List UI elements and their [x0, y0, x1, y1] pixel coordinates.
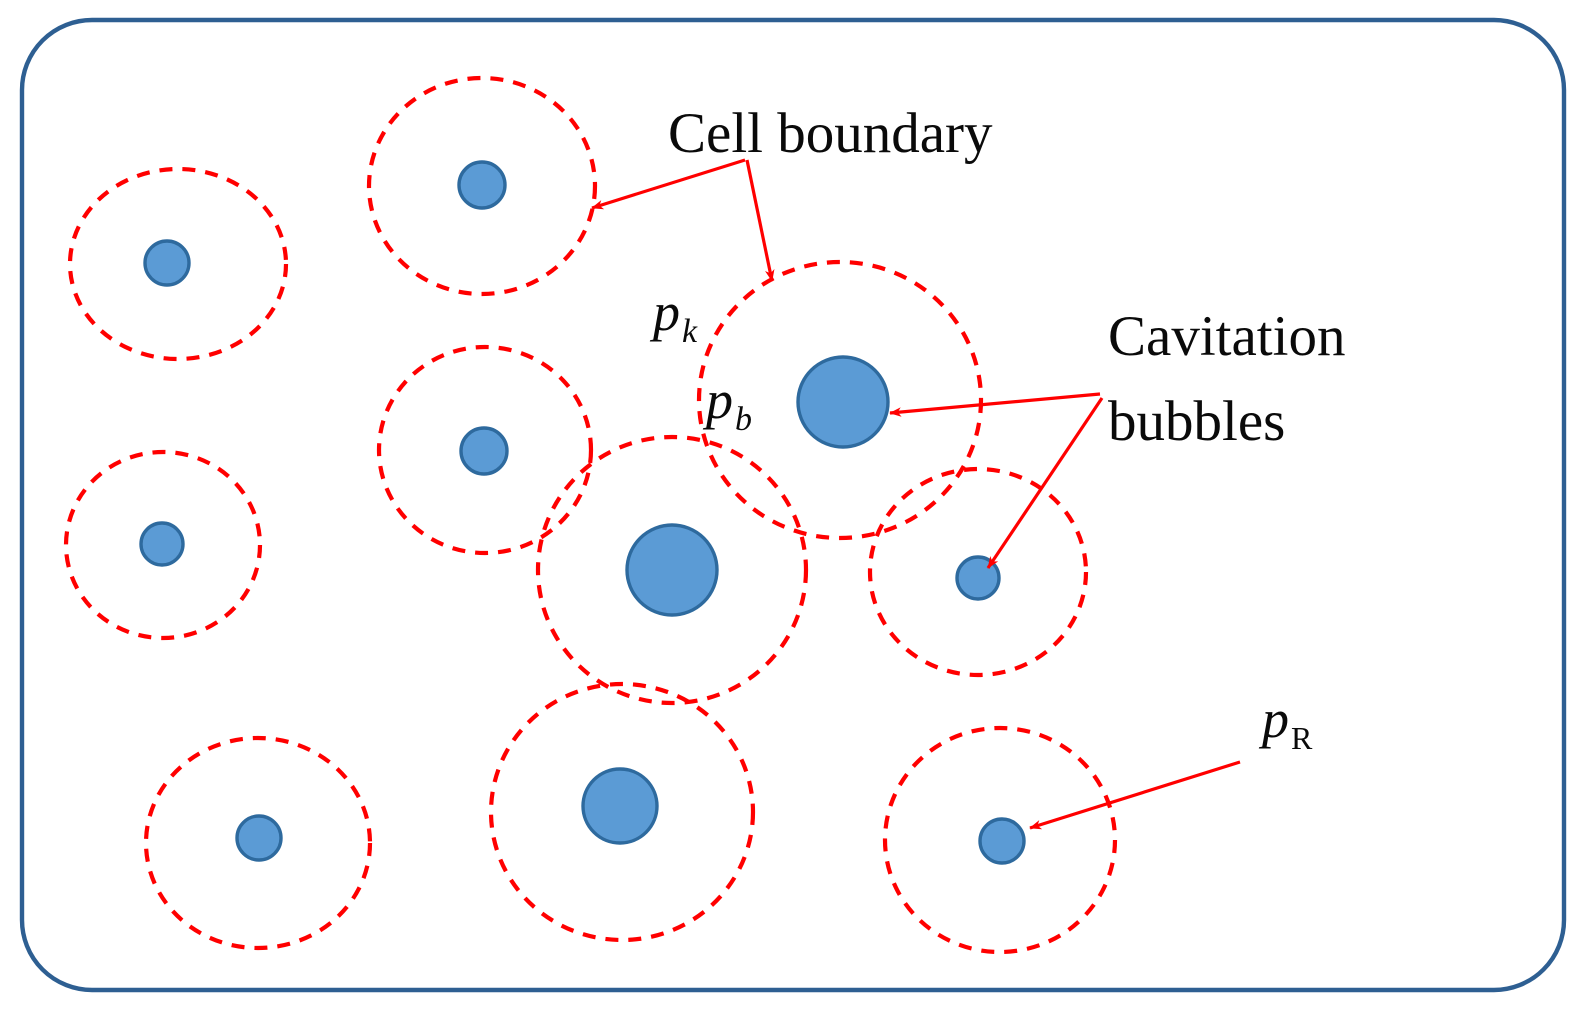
cell-group-bottom-right	[885, 728, 1115, 952]
cavitation-bubble-mid-center	[461, 428, 507, 474]
cell-group-upper-right	[699, 262, 981, 538]
cavitation-bubble-bottom-right	[980, 819, 1024, 863]
label-p-R-base: p	[1258, 689, 1289, 749]
label-cavitation-line1: Cavitation	[1108, 305, 1345, 368]
cell-group-mid-center	[379, 347, 591, 553]
label-p-R-subscript: R	[1291, 720, 1313, 756]
leader-cavitation-to-small-bubble	[988, 398, 1102, 568]
leader-cavitation-to-large-bubble	[890, 394, 1100, 413]
cavitation-cell-diagram: Cell boundary Cavitation bubbles p k p b…	[0, 0, 1584, 1028]
diagram-canvas: Cell boundary Cavitation bubbles p k p b…	[0, 0, 1584, 1028]
label-p-R: p R	[1258, 689, 1313, 756]
cavitation-bubble-center-large	[627, 525, 717, 615]
cell-group-top-left	[70, 169, 286, 359]
leader-cell-boundary-left	[592, 160, 745, 208]
cavitation-bubble-bottom-left	[237, 816, 281, 860]
cell-group-mid-left	[66, 452, 260, 638]
cavitation-bubble-top-mid	[459, 162, 505, 208]
label-p-k-subscript: k	[682, 313, 698, 350]
cavitation-bubble-upper-right	[798, 357, 888, 447]
cavitation-bubble-bottom-center	[583, 769, 657, 843]
label-p-b-base: p	[702, 370, 733, 430]
label-p-k: p k	[649, 282, 698, 350]
label-cell-boundary: Cell boundary	[668, 102, 993, 165]
label-p-b: p b	[702, 370, 752, 438]
cell-group-bottom-center	[491, 684, 753, 940]
label-p-b-subscript: b	[735, 401, 752, 438]
cell-group-top-mid	[369, 78, 595, 294]
label-cavitation-line2: bubbles	[1108, 390, 1285, 453]
leader-pR	[1030, 762, 1240, 828]
cavitation-bubble-top-left	[145, 241, 189, 285]
cell-group-center-large	[538, 437, 806, 703]
cell-group-right-small	[870, 469, 1086, 675]
label-p-k-base: p	[649, 282, 680, 342]
cell-group-bottom-left	[146, 738, 370, 948]
leader-cell-boundary-down	[747, 160, 772, 281]
cavitation-bubble-mid-left	[141, 523, 183, 565]
